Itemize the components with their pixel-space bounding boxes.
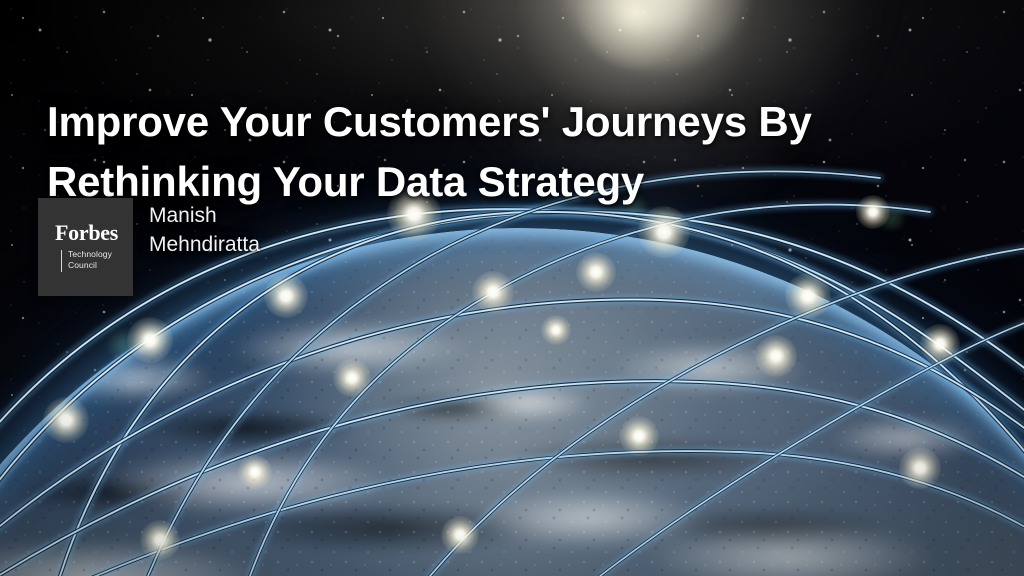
badge-subtitle-text: Technology Council: [68, 249, 112, 271]
slide-canvas: Improve Your Customers' Journeys By Reth…: [0, 0, 1024, 576]
badge-subtitle-line-2: Council: [68, 260, 112, 271]
author-first-name: Manish: [149, 202, 349, 231]
page-title-line-1: Improve Your Customers' Journeys By: [47, 92, 947, 152]
forbes-technology-council-logo: Forbes Technology Council: [38, 198, 133, 296]
page-title: Improve Your Customers' Journeys By Reth…: [47, 92, 947, 211]
author-byline: Manish Mehndiratta: [149, 202, 349, 259]
author-last-name: Mehndiratta: [149, 231, 349, 260]
badge-subtitle-line-1: Technology: [68, 249, 112, 260]
forbes-wordmark: Forbes: [55, 222, 118, 244]
badge-divider-rule: [61, 250, 62, 272]
badge-subtitle: Technology Council: [61, 249, 112, 272]
